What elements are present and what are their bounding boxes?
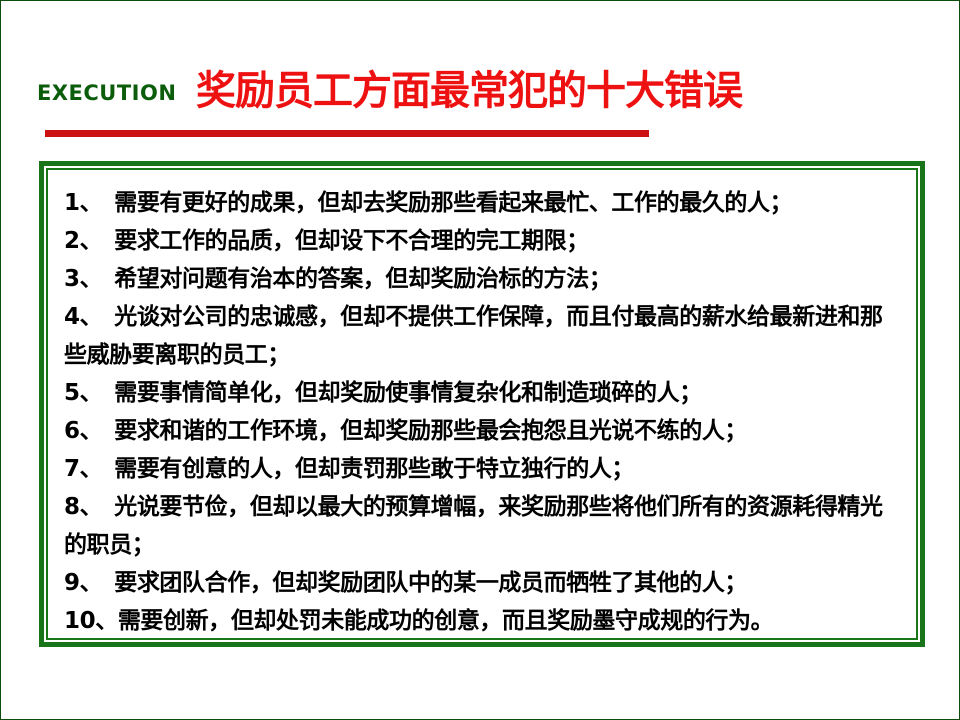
list-item-text: 要求团队合作，但却奖励团队中的某一成员而牺牲了其他的人； (114, 570, 747, 596)
list-item: 5、需要事情简单化，但却奖励使事情复杂化和制造琐碎的人； (64, 374, 904, 412)
list-item: 7、需要有创意的人，但却责罚那些敢于特立独行的人； (64, 450, 904, 488)
list-item-number: 1、 (64, 190, 102, 216)
list-item-text: 要求工作的品质，但却设下不合理的完工期限； (114, 228, 589, 254)
list-item-number: 8、 (64, 494, 102, 520)
list-item: 2、要求工作的品质，但却设下不合理的完工期限； (64, 222, 904, 260)
list-item-text: 要求和谐的工作环境，但却奖励那些最会抱怨且光说不练的人； (114, 418, 747, 444)
list-item-text: 光说要节俭，但却以最大的预算增幅，来奖励那些将他们所有的资源耗得精光的职员； (64, 494, 883, 558)
page-title: 奖励员工方面最常犯的十大错误 (1, 67, 937, 115)
list-item-number: 10、 (64, 608, 118, 634)
content-box: 1、需要有更好的成果，但却去奖励那些看起来最忙、工作的最久的人； 2、要求工作的… (39, 161, 925, 647)
list-item-text: 需要有更好的成果，但却去奖励那些看起来最忙、工作的最久的人； (114, 190, 792, 216)
list-item-number: 3、 (64, 266, 102, 292)
list-item-number: 5、 (64, 380, 102, 406)
list-item-text: 光谈对公司的忠诚感，但却不提供工作保障，而且付最高的薪水给最新进和那些威胁要离职… (64, 304, 883, 368)
list-item-number: 9、 (64, 570, 102, 596)
list-item: 4、光谈对公司的忠诚感，但却不提供工作保障，而且付最高的薪水给最新进和那些威胁要… (64, 298, 904, 374)
mistakes-list: 1、需要有更好的成果，但却去奖励那些看起来最忙、工作的最久的人； 2、要求工作的… (64, 184, 904, 640)
list-item: 8、光说要节俭，但却以最大的预算增幅，来奖励那些将他们所有的资源耗得精光的职员； (64, 488, 904, 564)
slide-header: EXECUTION 奖励员工方面最常犯的十大错误 (1, 1, 960, 151)
list-item-number: 7、 (64, 456, 102, 482)
list-item-text: 需要创新，但却处罚未能成功的创意，而且奖励墨守成规的行为。 (118, 608, 773, 634)
list-item-number: 4、 (64, 304, 102, 330)
list-item: 6、要求和谐的工作环境，但却奖励那些最会抱怨且光说不练的人； (64, 412, 904, 450)
list-item: 9、要求团队合作，但却奖励团队中的某一成员而牺牲了其他的人； (64, 564, 904, 602)
content-box-inner: 1、需要有更好的成果，但却去奖励那些看起来最忙、工作的最久的人； 2、要求工作的… (46, 168, 918, 640)
list-item-text: 需要有创意的人，但却责罚那些敢于特立独行的人； (114, 456, 634, 482)
list-item-number: 6、 (64, 418, 102, 444)
list-item: 1、需要有更好的成果，但却去奖励那些看起来最忙、工作的最久的人； (64, 184, 904, 222)
list-item-text: 希望对问题有治本的答案，但却奖励治标的方法； (114, 266, 611, 292)
slide-root: EXECUTION 奖励员工方面最常犯的十大错误 1、需要有更好的成果，但却去奖… (0, 0, 960, 720)
list-item-text: 需要事情简单化，但却奖励使事情复杂化和制造琐碎的人； (114, 380, 702, 406)
list-item: 3、希望对问题有治本的答案，但却奖励治标的方法； (64, 260, 904, 298)
list-item: 10、需要创新，但却处罚未能成功的创意，而且奖励墨守成规的行为。 (64, 602, 904, 640)
title-underline-rule (45, 130, 649, 137)
list-item-number: 2、 (64, 228, 102, 254)
